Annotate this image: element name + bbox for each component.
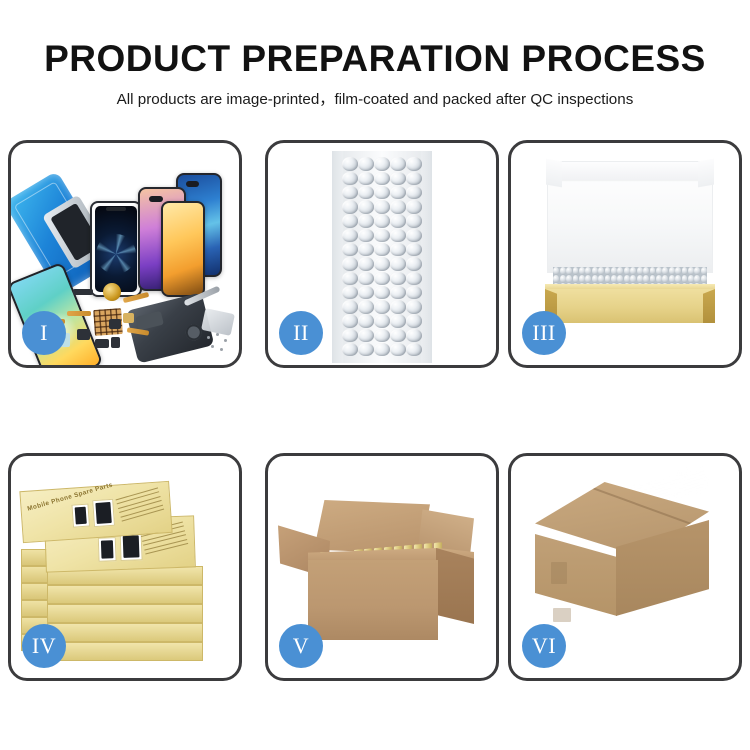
bubble bbox=[669, 275, 675, 282]
box-label-screen-photo bbox=[98, 537, 117, 562]
bubble bbox=[390, 314, 405, 327]
bubble bbox=[342, 157, 357, 170]
bubble bbox=[374, 300, 389, 313]
header: PRODUCT PREPARATION PROCESS All products… bbox=[0, 0, 750, 125]
bubble bbox=[358, 343, 373, 356]
bubble bbox=[390, 300, 405, 313]
bubble bbox=[611, 275, 617, 282]
liner-flap-left bbox=[546, 159, 562, 188]
bubble bbox=[342, 329, 357, 342]
bubble-wrap-sleeve bbox=[332, 151, 432, 363]
step-badge-4: IV bbox=[22, 624, 66, 668]
bubble bbox=[342, 214, 357, 227]
process-step-panel-1: I bbox=[8, 140, 242, 368]
bubble bbox=[342, 286, 357, 299]
phone-wallpaper bbox=[95, 206, 137, 292]
bubble bbox=[579, 275, 585, 282]
camera-cutout bbox=[186, 181, 199, 187]
box-label-screen-photo bbox=[92, 499, 115, 527]
bubble bbox=[342, 172, 357, 185]
bubble bbox=[406, 200, 421, 213]
bubble bbox=[675, 267, 681, 274]
bubble bbox=[390, 286, 405, 299]
page-title: PRODUCT PREPARATION PROCESS bbox=[0, 38, 750, 80]
process-step-grid: I II bbox=[8, 140, 742, 681]
bubble bbox=[358, 272, 373, 285]
carton-left-face bbox=[535, 534, 617, 616]
bubble bbox=[342, 243, 357, 256]
bubble bbox=[605, 275, 611, 282]
bubble bbox=[656, 267, 662, 274]
bubble bbox=[374, 286, 389, 299]
bubble bbox=[342, 272, 357, 285]
bubble bbox=[342, 257, 357, 270]
stacked-box bbox=[47, 642, 203, 661]
bubble bbox=[390, 157, 405, 170]
bubble bbox=[390, 214, 405, 227]
camera-cutout bbox=[149, 196, 163, 202]
carton-tape-patch bbox=[551, 562, 567, 584]
bubble bbox=[358, 300, 373, 313]
step-badge-5: V bbox=[279, 624, 323, 668]
bubble bbox=[358, 314, 373, 327]
bubble bbox=[637, 275, 643, 282]
bubble bbox=[358, 186, 373, 199]
bubble bbox=[643, 267, 649, 274]
bubble bbox=[406, 300, 421, 313]
bubble bbox=[390, 243, 405, 256]
process-step-panel-5: V bbox=[265, 453, 499, 681]
bubble bbox=[560, 275, 566, 282]
bubble bbox=[374, 257, 389, 270]
bubble bbox=[358, 243, 373, 256]
bubble bbox=[701, 275, 707, 282]
bubble bbox=[390, 343, 405, 356]
step-badge-2: II bbox=[279, 311, 323, 355]
small-part bbox=[77, 329, 90, 340]
bubble bbox=[688, 275, 694, 282]
bubble bbox=[342, 200, 357, 213]
stacked-box bbox=[47, 585, 203, 604]
bubble bbox=[374, 314, 389, 327]
box-label-screen-photo bbox=[71, 504, 90, 528]
bubble bbox=[579, 267, 585, 274]
bubble bbox=[675, 275, 681, 282]
bubble bbox=[553, 267, 559, 274]
bubble bbox=[374, 329, 389, 342]
bubble bbox=[406, 272, 421, 285]
bubble bbox=[624, 267, 630, 274]
bubble bbox=[358, 200, 373, 213]
bubble bbox=[406, 329, 421, 342]
bubble bbox=[390, 229, 405, 242]
stacked-box bbox=[47, 604, 203, 623]
bubble bbox=[406, 214, 421, 227]
bubble bbox=[358, 257, 373, 270]
small-part bbox=[123, 313, 134, 323]
bubble bbox=[358, 286, 373, 299]
bubble bbox=[406, 314, 421, 327]
bubble bbox=[605, 267, 611, 274]
process-step-panel-4: Mobile Phone Spare Parts Mobile Phone Sp… bbox=[8, 453, 242, 681]
bubble bbox=[406, 157, 421, 170]
small-part bbox=[111, 337, 120, 348]
liner-flap-right bbox=[698, 159, 714, 188]
bubble bbox=[694, 267, 700, 274]
bubble bbox=[406, 343, 421, 356]
bubble bbox=[682, 275, 688, 282]
bubble bbox=[390, 329, 405, 342]
bubble bbox=[637, 267, 643, 274]
bubble bbox=[374, 272, 389, 285]
page-subtitle: All products are image-printed，film-coat… bbox=[0, 87, 750, 109]
bubble bbox=[342, 314, 357, 327]
carton-front-face bbox=[308, 560, 438, 640]
bubble bbox=[592, 275, 598, 282]
bubble bbox=[566, 275, 572, 282]
bubble bbox=[566, 267, 572, 274]
bubble bbox=[406, 172, 421, 185]
box-label-spec-lines bbox=[116, 487, 167, 528]
bubble bbox=[406, 243, 421, 256]
bubble bbox=[585, 275, 591, 282]
bubble bbox=[656, 275, 662, 282]
flex-cable-part bbox=[67, 311, 91, 316]
bubble bbox=[643, 275, 649, 282]
bubble bbox=[598, 267, 604, 274]
process-step-panel-3: III bbox=[508, 140, 742, 368]
step-badge-3: III bbox=[522, 311, 566, 355]
bubble bbox=[390, 186, 405, 199]
bubble bbox=[374, 200, 389, 213]
bubble bbox=[662, 267, 668, 274]
product-preparation-infographic: PRODUCT PREPARATION PROCESS All products… bbox=[0, 0, 750, 750]
bubble bbox=[406, 286, 421, 299]
bubble bbox=[374, 172, 389, 185]
bubble bbox=[390, 172, 405, 185]
printed-box-lid: Mobile Phone Spare Parts bbox=[19, 481, 172, 543]
bubble bbox=[630, 267, 636, 274]
phone-notch bbox=[106, 207, 126, 211]
bubble bbox=[611, 267, 617, 274]
small-part bbox=[73, 289, 93, 295]
bubble bbox=[650, 267, 656, 274]
bubble bbox=[342, 229, 357, 242]
bubble bbox=[630, 275, 636, 282]
bubble bbox=[682, 267, 688, 274]
bubble bbox=[342, 300, 357, 313]
bubble bbox=[617, 275, 623, 282]
bubble bbox=[374, 343, 389, 356]
screws-group bbox=[205, 333, 231, 353]
bubble bbox=[342, 343, 357, 356]
yellow-gradient-phone bbox=[161, 201, 205, 297]
bubble bbox=[617, 267, 623, 274]
foam-liner bbox=[547, 161, 713, 273]
bubble bbox=[374, 214, 389, 227]
bubble bbox=[390, 200, 405, 213]
bubble bbox=[553, 275, 559, 282]
bubble bbox=[406, 186, 421, 199]
bubble bbox=[585, 267, 591, 274]
bubble bbox=[390, 272, 405, 285]
step-badge-6: VI bbox=[522, 624, 566, 668]
bubble bbox=[358, 229, 373, 242]
bubble bbox=[374, 186, 389, 199]
bubble bbox=[406, 229, 421, 242]
small-part bbox=[95, 339, 109, 348]
bubble bbox=[560, 267, 566, 274]
bubble-grid bbox=[342, 157, 422, 357]
bubble bbox=[573, 267, 579, 274]
carton-tape-patch bbox=[553, 608, 571, 622]
bubble bbox=[358, 214, 373, 227]
carton-side-face bbox=[436, 548, 474, 624]
box-corner-right bbox=[703, 289, 715, 323]
bubble bbox=[406, 257, 421, 270]
bubble bbox=[374, 229, 389, 242]
bubble bbox=[598, 275, 604, 282]
bubble bbox=[342, 186, 357, 199]
bubble bbox=[358, 172, 373, 185]
bubble bbox=[592, 267, 598, 274]
bubble bbox=[701, 267, 707, 274]
bubble bbox=[358, 157, 373, 170]
process-step-panel-6: VI bbox=[508, 453, 742, 681]
bubble bbox=[694, 275, 700, 282]
bubble bbox=[573, 275, 579, 282]
box-label-screen-photo bbox=[120, 532, 143, 561]
bubble bbox=[662, 275, 668, 282]
bubble bbox=[650, 275, 656, 282]
bubble bbox=[374, 243, 389, 256]
kraft-box-front bbox=[545, 289, 715, 323]
bubble bbox=[624, 275, 630, 282]
stacked-box bbox=[47, 623, 203, 642]
step-badge-1: I bbox=[22, 311, 66, 355]
bubble bbox=[688, 267, 694, 274]
bubble bbox=[374, 157, 389, 170]
process-step-panel-2: II bbox=[265, 140, 499, 368]
sleeve-edge-right bbox=[421, 151, 432, 363]
bubble bbox=[669, 267, 675, 274]
white-frame-phone-screen bbox=[90, 201, 142, 297]
small-part bbox=[109, 319, 121, 329]
vibration-motor-part bbox=[103, 283, 121, 301]
bubble bbox=[390, 257, 405, 270]
bubble bbox=[358, 329, 373, 342]
